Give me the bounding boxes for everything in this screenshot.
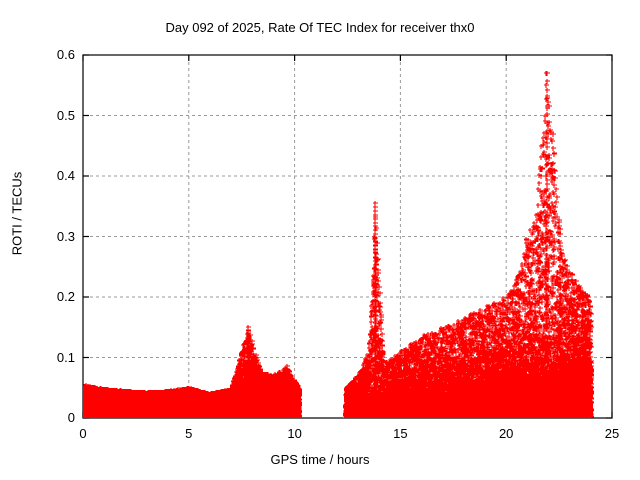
x-tick-label: 0: [63, 426, 103, 441]
chart-canvas: Day 092 of 2025, Rate Of TEC Index for r…: [0, 0, 640, 480]
y-tick-label: 0.4: [31, 168, 75, 183]
y-tick-label: 0: [31, 410, 75, 425]
y-tick-label: 0.2: [31, 289, 75, 304]
x-tick-label: 15: [380, 426, 420, 441]
y-tick-label: 0.3: [31, 229, 75, 244]
x-tick-label: 25: [592, 426, 632, 441]
plot-area: [0, 0, 640, 480]
data-points-roti: [81, 71, 594, 421]
y-tick-label: 0.1: [31, 350, 75, 365]
y-tick-label: 0.6: [31, 47, 75, 62]
x-tick-label: 20: [486, 426, 526, 441]
y-tick-label: 0.5: [31, 108, 75, 123]
x-tick-label: 5: [169, 426, 209, 441]
x-tick-label: 10: [275, 426, 315, 441]
